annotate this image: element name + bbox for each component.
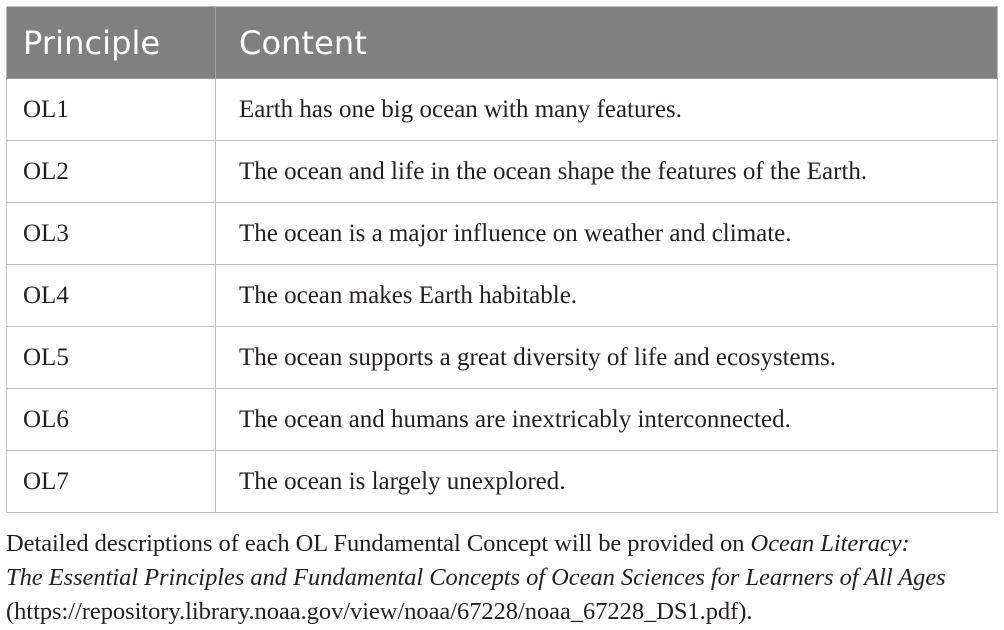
cell-principle: OL5 [7, 327, 216, 389]
caption-line-1: Detailed descriptions of each OL Fundame… [6, 527, 1004, 561]
cell-content: The ocean and humans are inextricably in… [216, 389, 998, 451]
cell-principle: OL4 [7, 265, 216, 327]
table-row: OL6 The ocean and humans are inextricabl… [7, 389, 998, 451]
column-header-content: Content [216, 7, 998, 79]
cell-principle: OL3 [7, 203, 216, 265]
table-row: OL3 The ocean is a major influence on we… [7, 203, 998, 265]
cell-content: Earth has one big ocean with many featur… [216, 79, 998, 141]
table-row: OL1 Earth has one big ocean with many fe… [7, 79, 998, 141]
cell-principle: OL6 [7, 389, 216, 451]
cell-content: The ocean is a major influence on weathe… [216, 203, 998, 265]
table-row: OL7 The ocean is largely unexplored. [7, 451, 998, 513]
table-header: Principle Content [7, 7, 998, 79]
caption-line-1-italic-title: Ocean Literacy: [751, 530, 910, 557]
table-caption: Detailed descriptions of each OL Fundame… [6, 527, 1004, 629]
table-row: OL5 The ocean supports a great diversity… [7, 327, 998, 389]
caption-line-2-italic-title: The Essential Principles and Fundamental… [6, 561, 1004, 595]
cell-principle: OL2 [7, 141, 216, 203]
table-body: OL1 Earth has one big ocean with many fe… [7, 79, 998, 513]
cell-content: The ocean and life in the ocean shape th… [216, 141, 998, 203]
table-header-row: Principle Content [7, 7, 998, 79]
cell-principle: OL7 [7, 451, 216, 513]
cell-principle: OL1 [7, 79, 216, 141]
table-row: OL4 The ocean makes Earth habitable. [7, 265, 998, 327]
cell-content: The ocean makes Earth habitable. [216, 265, 998, 327]
cell-content: The ocean is largely unexplored. [216, 451, 998, 513]
cell-content: The ocean supports a great diversity of … [216, 327, 998, 389]
table-row: OL2 The ocean and life in the ocean shap… [7, 141, 998, 203]
figure-container: Principle Content OL1 Earth has one big … [0, 0, 1004, 630]
caption-line-1-roman: Detailed descriptions of each OL Fundame… [6, 530, 751, 557]
column-header-principle: Principle [7, 7, 216, 79]
ocean-literacy-principles-table: Principle Content OL1 Earth has one big … [6, 6, 998, 513]
caption-line-3-url: (https://repository.library.noaa.gov/vie… [6, 595, 1004, 629]
